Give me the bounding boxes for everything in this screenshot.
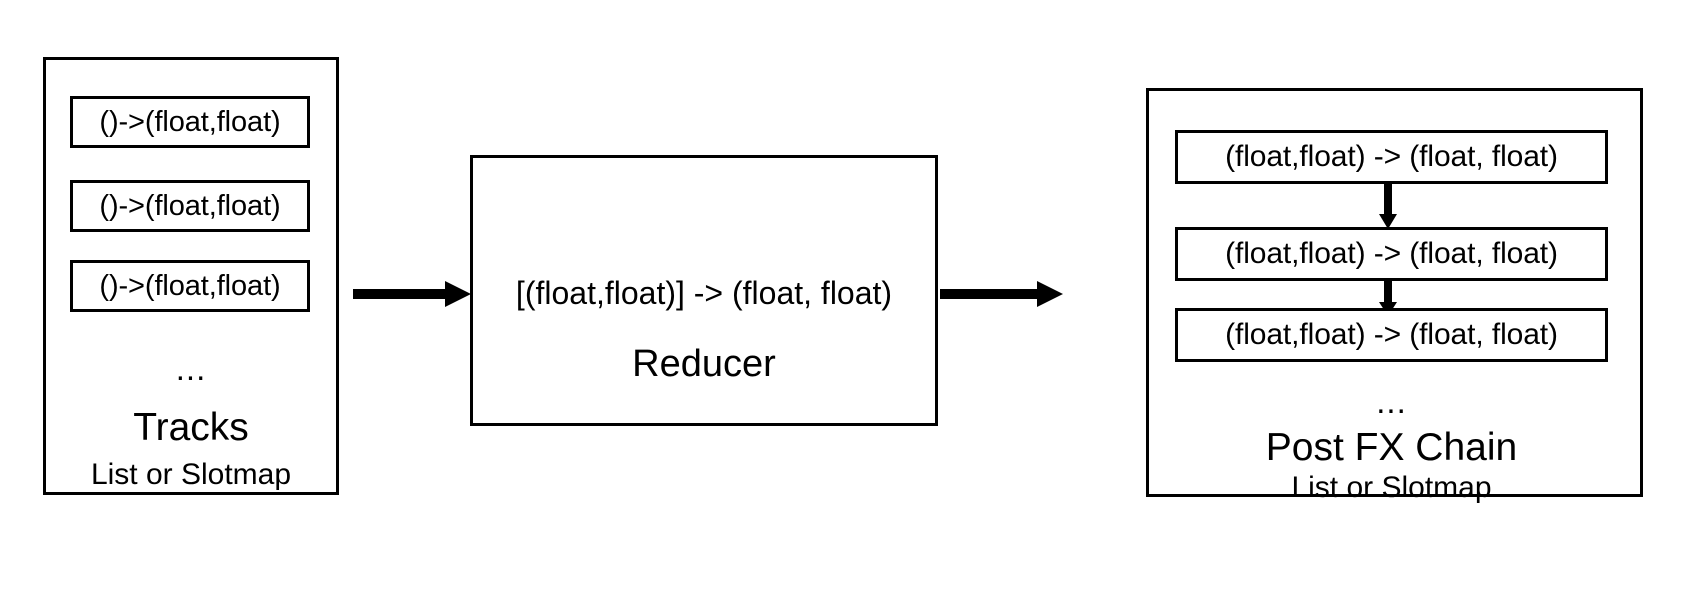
track-item-1[interactable]: ()->(float,float) (70, 96, 310, 148)
postfx-item-1-label: (float,float) -> (float, float) (1225, 142, 1558, 172)
arrow-postfx-1-to-2 (1379, 184, 1397, 229)
reducer-signature: [(float,float)] -> (float, float) (470, 277, 938, 309)
postfx-title: Post FX Chain (1175, 428, 1608, 467)
postfx-item-2-label: (float,float) -> (float, float) (1225, 239, 1558, 269)
reducer-title: Reducer (470, 345, 938, 383)
postfx-ellipsis: ... (1175, 385, 1608, 418)
postfx-subtitle: List or Slotmap (1175, 473, 1608, 503)
postfx-item-2[interactable]: (float,float) -> (float, float) (1175, 227, 1608, 281)
track-item-3-label: ()->(float,float) (99, 272, 280, 301)
diagram-canvas: ()->(float,float) ()->(float,float) ()->… (0, 0, 1694, 600)
track-item-2[interactable]: ()->(float,float) (70, 180, 310, 232)
tracks-title: Tracks (0, 408, 382, 447)
tracks-ellipsis: ... (0, 352, 382, 385)
arrow-reducer-to-postfx (940, 278, 1063, 308)
postfx-item-1[interactable]: (float,float) -> (float, float) (1175, 130, 1608, 184)
postfx-item-3-label: (float,float) -> (float, float) (1225, 320, 1558, 350)
postfx-item-3[interactable]: (float,float) -> (float, float) (1175, 308, 1608, 362)
track-item-1-label: ()->(float,float) (99, 108, 280, 137)
track-item-2-label: ()->(float,float) (99, 192, 280, 221)
arrow-tracks-to-reducer (353, 278, 471, 308)
track-item-3[interactable]: ()->(float,float) (70, 260, 310, 312)
tracks-subtitle: List or Slotmap (0, 460, 382, 490)
